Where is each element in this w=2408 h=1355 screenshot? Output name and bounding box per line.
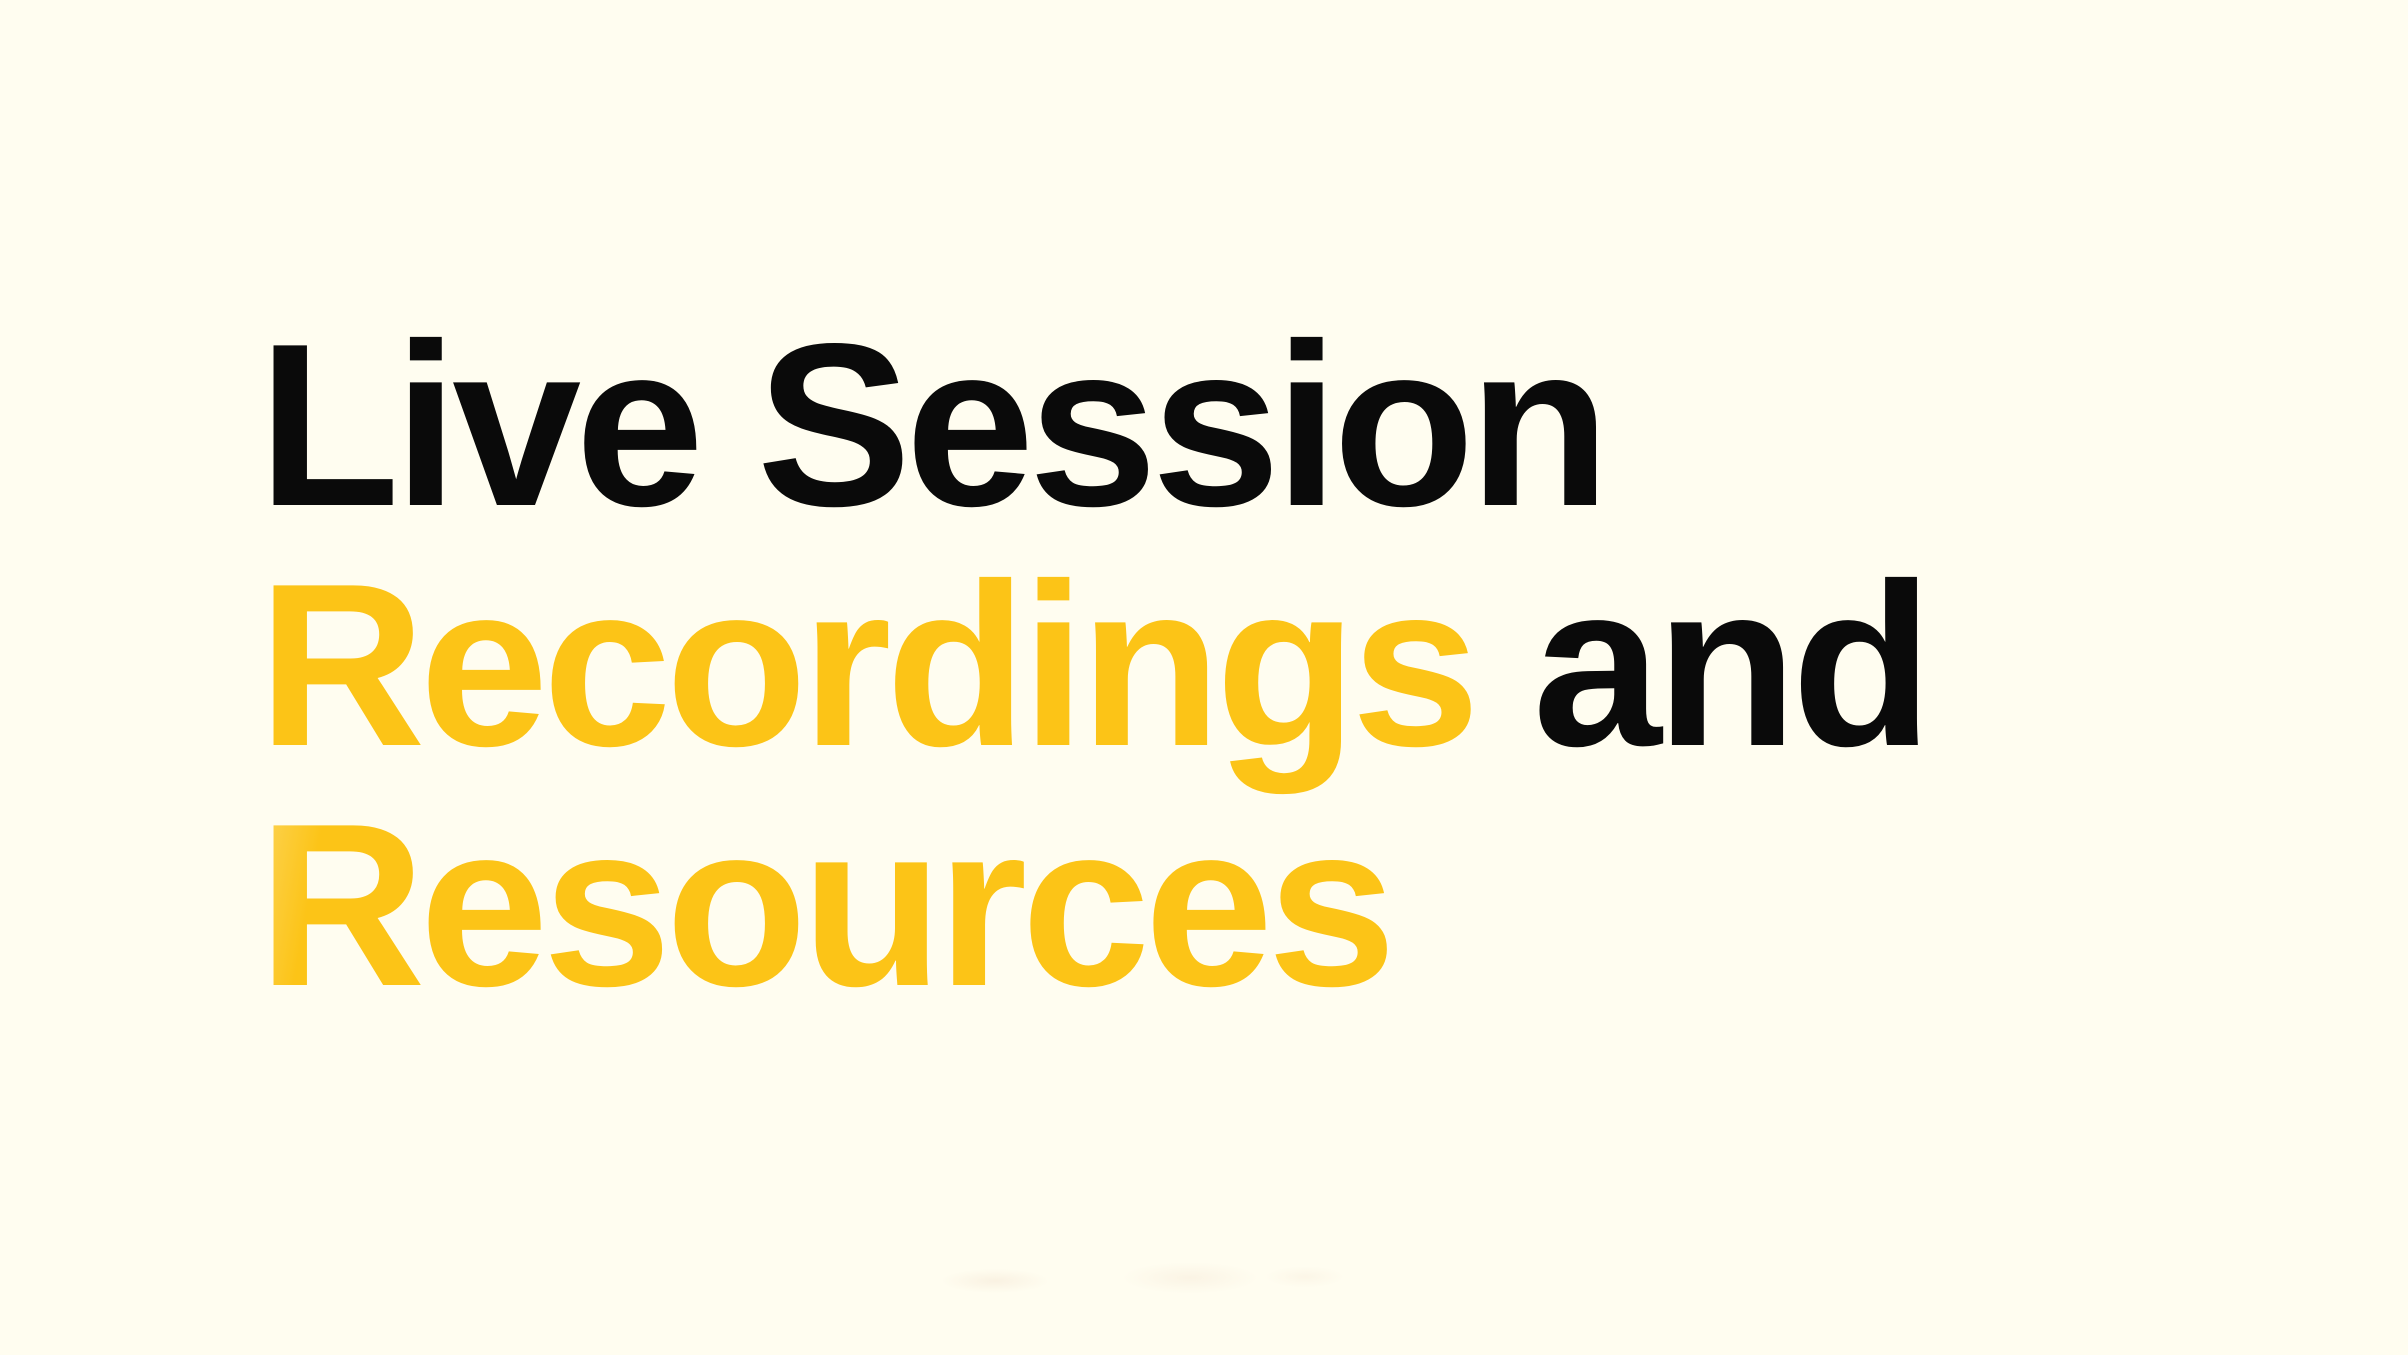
headline-line-3: Resources (258, 786, 2258, 1026)
slide-canvas: Live Session Recordings and Resources (0, 0, 2408, 1355)
headline-line-2: Recordings and (258, 546, 2258, 786)
page-title: Live Session Recordings and Resources (258, 306, 2258, 1026)
headline-line-2-accent-text: Recordings (258, 536, 1474, 795)
headline-line-1: Live Session (258, 306, 2258, 546)
headline-line-1-text: Live Session (258, 296, 1604, 555)
background-artifact (880, 1246, 1400, 1310)
headline-line-2-dark-text: and (1474, 536, 1927, 795)
headline-line-3-accent-text: Resources (258, 776, 1390, 1035)
